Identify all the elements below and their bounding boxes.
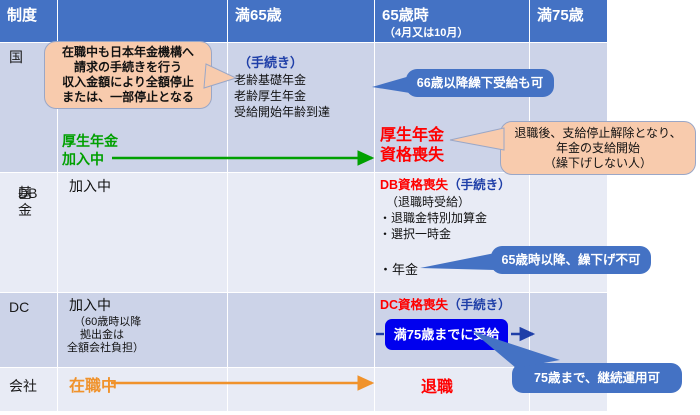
dc-loss-red-text: DC資格喪失 (380, 298, 448, 312)
dc-note-line3: 全額会社負担） (67, 342, 144, 355)
db-loss-red-text: DB資格喪失 (380, 178, 448, 192)
header-age65-label: 満65歳 (235, 7, 282, 24)
kuni-item-1: 老齢基礎年金 (234, 73, 306, 88)
row-label-dc-text: DC (9, 299, 29, 316)
callout-nenkin-kiko-line2: 請求の手続きを行う (74, 60, 182, 75)
kosei-nenkin-line2: 加入中 (62, 150, 104, 168)
header-at65-label: 65歳時 (382, 7, 429, 24)
row-dc-col-age75 (530, 293, 607, 368)
kosei-nenkin-line1: 厚生年金 (62, 132, 118, 150)
header-age75-label: 満75歳 (537, 7, 584, 24)
callout-keizoku-75[interactable]: 75歳まで、継続運用可 (512, 363, 682, 393)
callout-kurisage-fuka-text: 65歳時以降、繰下げ不可 (491, 246, 651, 274)
db-loss-heading: DB資格喪失（手続き） (380, 178, 511, 193)
row-label-kaisha: 会社 (0, 368, 58, 411)
db-pension-item: ・年金 (379, 262, 418, 277)
header-cell-system: 制度 (0, 0, 58, 43)
kaisha-status-label: 在職中 (69, 378, 117, 396)
header-cell-age75: 満75歳 (530, 0, 607, 43)
header-system-label: 制度 (7, 7, 37, 24)
kosei-loss-line1: 厚生年金 (380, 126, 444, 146)
kosei-loss-line2: 資格喪失 (380, 146, 444, 166)
callout-taishokugo[interactable]: 退職後、支給停止解除となり、 年金の支給開始 （繰下げしない人） (500, 121, 696, 175)
callout-taishokugo-line2: 年金の支給開始 (556, 141, 640, 156)
row-kaisha-col-age65 (228, 368, 375, 411)
dc-note-line1: （60歳時以降 (74, 316, 141, 329)
dc-loss-blue-text: （手続き） (448, 298, 511, 312)
dc-receive-by-75-box[interactable]: 満75歳までに受給 (385, 319, 508, 350)
row-db-col-age65 (228, 173, 375, 293)
kuni-item-3: 受給開始年齢到達 (234, 105, 330, 120)
callout-taishokugo-text: 退職後、支給停止解除となり、 年金の支給開始 （繰下げしない人） (501, 122, 695, 174)
callout-nenkin-kiko[interactable]: 在職中も日本年金機構へ 請求の手続きを行う 収入金額により全額停止 または、一部… (44, 41, 212, 109)
row-kaisha-col-blank: 在職中 (58, 368, 228, 411)
dc-note-line2: 拠出金は (80, 329, 124, 342)
dc-receive-by-75-text: 満75歳までに受給 (385, 319, 508, 350)
kaisha-end-label: 退職 (421, 378, 453, 398)
kuni-procedure-title: （手続き） (238, 55, 303, 70)
callout-nenkin-kiko-line1: 在職中も日本年金機構へ (62, 45, 194, 60)
row-label-kaisha-text: 会社 (9, 378, 37, 395)
callout-taishokugo-line1: 退職後、支給停止解除となり、 (514, 126, 681, 141)
kuni-item-2: 老齢厚生年金 (234, 89, 306, 104)
row-dc-col-age65 (228, 293, 375, 368)
header-cell-at65: 65歳時 （4月又は10月） (375, 0, 530, 43)
row-label-kuni-text: 国 (9, 49, 23, 66)
callout-kurisage-fuka[interactable]: 65歳時以降、繰下げ不可 (491, 246, 651, 274)
callout-keizoku-75-text: 75歳まで、継続運用可 (512, 363, 682, 393)
db-status-label: 加入中 (69, 178, 111, 195)
row-db-col-blank: 加入中 (58, 173, 228, 293)
dc-status-label: 加入中 (69, 297, 111, 314)
db-item-2: ・選択一時金 (379, 227, 451, 242)
db-sub-note: （退職時受給） (386, 195, 470, 210)
db-loss-blue-text: （手続き） (448, 178, 511, 192)
header-cell-blank (58, 0, 228, 43)
dc-loss-heading: DC資格喪失（手続き） (380, 298, 511, 313)
row-dc-col-blank: 加入中 （60歳時以降 拠出金は 全額会社負担） (58, 293, 228, 368)
callout-kurisage-66[interactable]: 66歳以降繰下受給も可 (406, 69, 554, 97)
row-db-col-age75 (530, 173, 607, 293)
callout-nenkin-kiko-line3: 収入金額により全額停止 (62, 75, 194, 90)
row-label-dc: DC (0, 293, 58, 368)
row-kaisha-col-at65: 退職 (375, 368, 530, 411)
header-at65-sublabel: （4月又は10月） (384, 25, 468, 42)
row-label-kikin-db: 基金DB (0, 173, 58, 293)
callout-kurisage-66-text: 66歳以降繰下受給も可 (406, 69, 554, 97)
pension-timeline-diagram: 制度 満65歳 65歳時 （4月又は10月） 満75歳 国 基金DB 加入中 (0, 0, 700, 415)
callout-nenkin-kiko-line4: または、一部停止となる (62, 90, 194, 105)
header-cell-age65: 満65歳 (228, 0, 375, 43)
db-item-1: ・退職金特別加算金 (379, 211, 487, 226)
callout-nenkin-kiko-text: 在職中も日本年金機構へ 請求の手続きを行う 収入金額により全額停止 または、一部… (45, 42, 211, 108)
callout-taishokugo-line3: （繰下げしない人） (544, 156, 652, 171)
